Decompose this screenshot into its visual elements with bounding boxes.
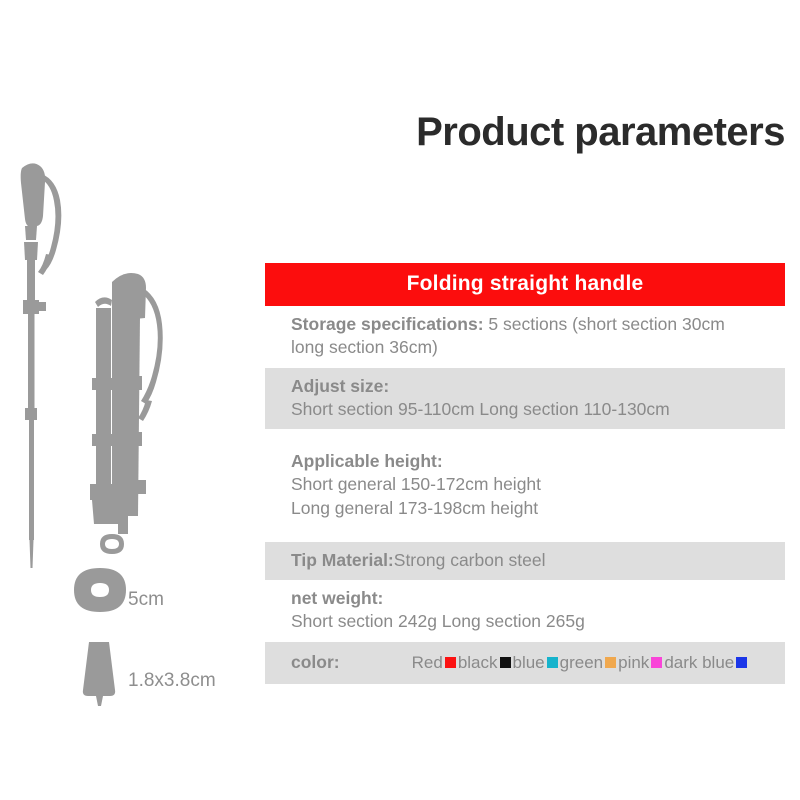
spec-value-line: Short general 150-172cm height	[291, 473, 785, 496]
color-swatch-green	[605, 657, 616, 668]
row-spacer	[265, 528, 785, 542]
color-option[interactable]: dark blue	[664, 654, 749, 671]
spec-key: Adjust size:	[291, 375, 785, 398]
color-swatch-black	[500, 657, 511, 668]
tip-measure-label: 1.8x3.8cm	[128, 670, 216, 692]
pole-tip	[83, 642, 115, 706]
color-option[interactable]: blue	[513, 654, 560, 671]
color-swatch-pink	[651, 657, 662, 668]
color-option[interactable]: black	[458, 654, 513, 671]
snow-basket	[74, 568, 126, 612]
color-option-label: blue	[513, 654, 545, 671]
spec-row-color: color: Redblackbluegreenpinkdark blue	[265, 642, 785, 684]
color-swatch-dark-blue	[736, 657, 747, 668]
page-title: Product parameters	[265, 112, 785, 152]
color-option-label: pink	[618, 654, 649, 671]
spec-row-applicable-height: Applicable height: Short general 150-172…	[265, 443, 785, 528]
product-illustration	[0, 150, 260, 710]
spec-row-adjust-size: Adjust size: Short section 95-110cm Long…	[265, 368, 785, 430]
spec-key: net weight:	[291, 587, 785, 610]
spec-row-net-weight: net weight: Short section 242g Long sect…	[265, 580, 785, 642]
color-option-label: green	[560, 654, 603, 671]
spec-table: Folding straight handle Storage specific…	[265, 263, 785, 684]
color-option[interactable]: Red	[412, 654, 458, 671]
spec-key: Storage specifications:	[291, 314, 484, 334]
basket-measure-label: 5cm	[128, 589, 164, 611]
color-option[interactable]: pink	[618, 654, 664, 671]
spec-value-line: Long general 173-198cm height	[291, 497, 785, 520]
color-option-list: Redblackbluegreenpinkdark blue	[412, 654, 750, 671]
color-option-label: Red	[412, 654, 443, 671]
extended-trekking-pole	[21, 163, 62, 568]
spec-table-header: Folding straight handle	[265, 263, 785, 306]
color-option-label: dark blue	[664, 654, 734, 671]
color-option[interactable]: green	[560, 654, 618, 671]
spec-key: Applicable height:	[291, 450, 785, 473]
color-swatch-Red	[445, 657, 456, 668]
color-swatch-blue	[547, 657, 558, 668]
spec-value-line: Short section 242g Long section 265g	[291, 610, 785, 633]
spec-value: 5 sections (short section 30cm	[484, 314, 725, 334]
folded-trekking-pole	[90, 273, 163, 554]
spec-value-line: long section 36cm)	[291, 336, 785, 359]
spec-row-storage: Storage specifications: 5 sections (shor…	[265, 306, 785, 368]
row-spacer	[265, 429, 785, 443]
spec-value: Strong carbon steel	[394, 550, 546, 570]
spec-key: Tip Material:	[291, 550, 394, 570]
spec-row-tip-material: Tip Material:Strong carbon steel	[265, 542, 785, 580]
spec-value-line: Short section 95-110cm Long section 110-…	[291, 398, 785, 421]
spec-key: color:	[291, 652, 340, 673]
color-option-label: black	[458, 654, 498, 671]
